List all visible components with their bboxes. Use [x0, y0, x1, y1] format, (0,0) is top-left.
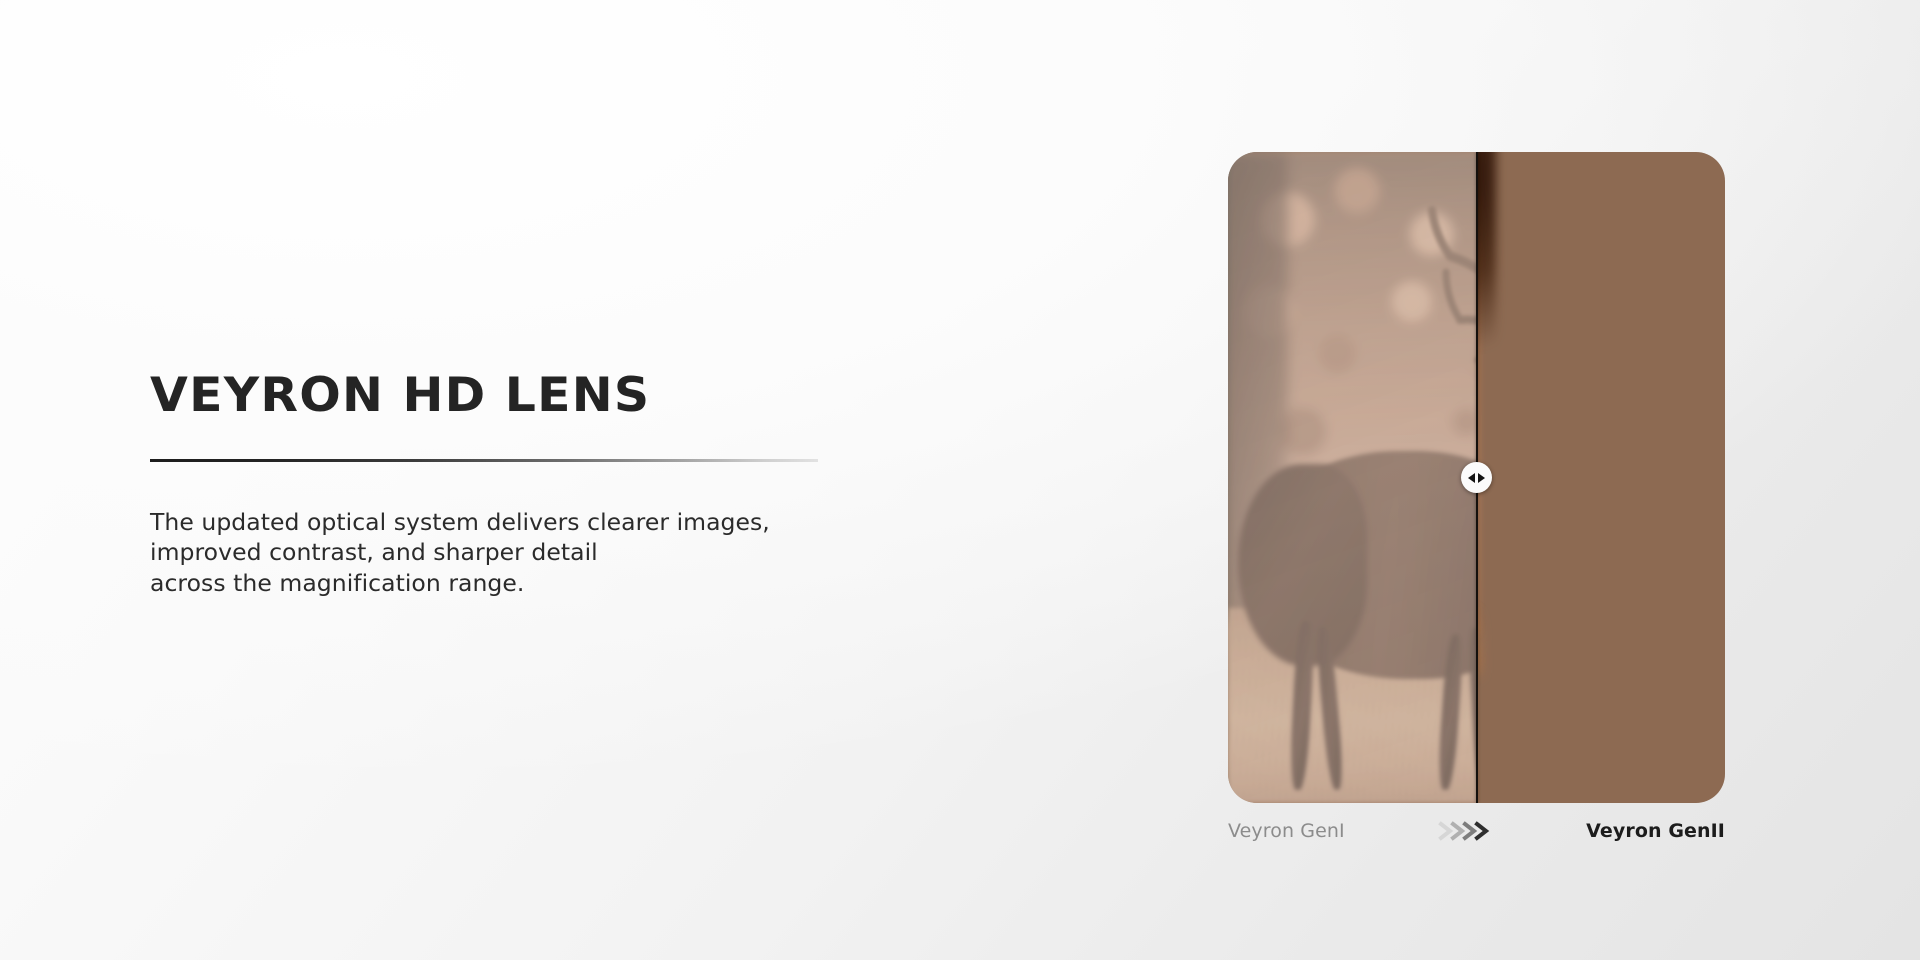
description-paragraph: The updated optical system delivers clea… — [150, 507, 810, 599]
stag-before — [1228, 152, 1477, 803]
comparison-captions: Veyron GenI Veyron GenII — [1228, 818, 1725, 844]
hero-text-block: VEYRON HD LENS The updated optical syste… — [150, 372, 810, 599]
caption-after-label: Veyron GenII — [1586, 820, 1725, 842]
tree-canopy-right — [1477, 152, 1497, 347]
description-line-3: across the magnification range. — [150, 568, 810, 599]
caption-before-label: Veyron GenI — [1228, 820, 1345, 842]
scene-before — [1228, 152, 1477, 803]
title-divider — [150, 459, 818, 462]
before-after-comparison[interactable] — [1228, 152, 1725, 803]
comparison-slider-handle[interactable] — [1461, 462, 1492, 493]
description-line-1: The updated optical system delivers clea… — [150, 507, 810, 538]
comparison-image-before — [1228, 152, 1477, 803]
chevron-left-icon — [1468, 473, 1475, 483]
description-line-2: improved contrast, and sharper detail — [150, 537, 810, 568]
chevron-right-icon — [1478, 473, 1485, 483]
comparison-image-after — [1477, 152, 1726, 803]
page-title: VEYRON HD LENS — [150, 372, 836, 420]
triple-chevron-right-icon — [1437, 818, 1493, 844]
comparison-image-frame[interactable] — [1228, 152, 1725, 803]
